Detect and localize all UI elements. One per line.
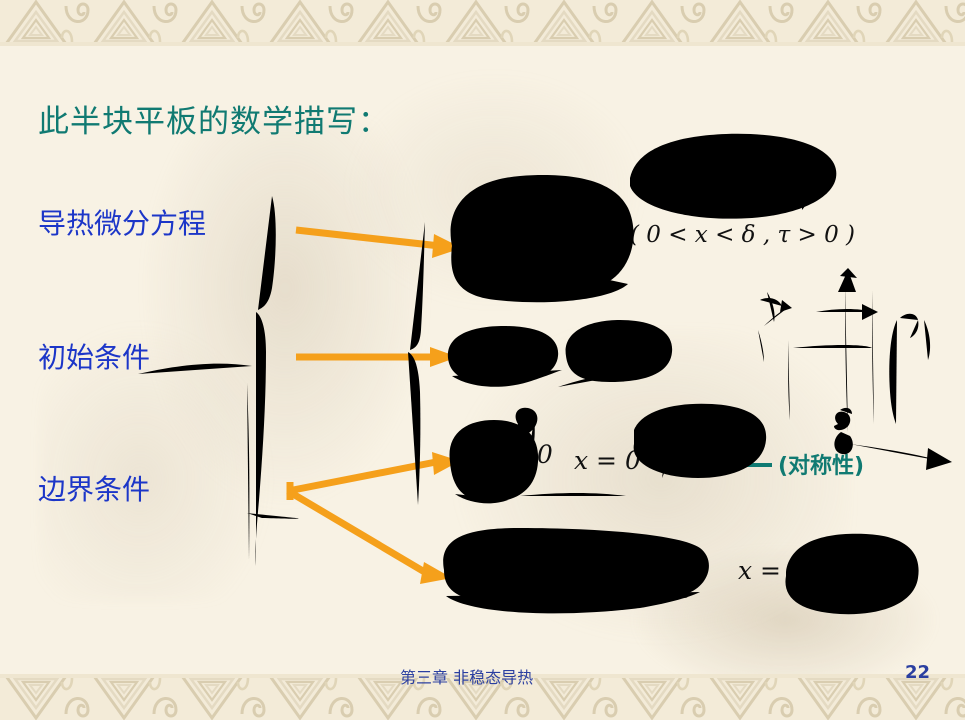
eq4-lead: − λ (452, 555, 502, 584)
ink-underline-initial (138, 364, 252, 374)
ink-handwritten-second-kind (634, 404, 766, 478)
label-heat-conduction-equation: 导热微分方程 (38, 202, 206, 242)
ink-cross-boundary (176, 383, 299, 560)
ink-tick-eq1 (520, 272, 522, 282)
label-initial-condition: 初始条件 (38, 336, 150, 376)
arrow-fork-to-boundary (288, 452, 460, 584)
background-watermark (430, 330, 850, 660)
symmetry-note: (对称性) (778, 448, 864, 480)
eq1-lhs-fraction: ∂t ∂τ (463, 213, 496, 267)
eq1-rhs-fraction: ∂2t ∂x2 (574, 212, 617, 268)
equation-pde-domain-condition: ( 0 < x < δ , τ > 0 ) (630, 222, 855, 248)
eq4-fraction: ∂t ∂x (510, 545, 543, 599)
equation-heat-conduction: ∂t ∂τ = a ∂2t ∂x2 (463, 212, 617, 268)
ink-handwritten-third-kind (785, 534, 918, 614)
eq3-fraction: ∂t ∂x (460, 430, 493, 484)
eq3-rhs: = 0 (501, 440, 553, 469)
equation-initial-temperature: t = t0 (462, 340, 529, 373)
footer-chapter: 第三章 非稳态导热 (400, 664, 533, 688)
equation-convection-position: x = δ (738, 556, 804, 585)
page-title: 此半块平板的数学描写： (38, 96, 390, 141)
slide-canvas: 此半块平板的数学描写： 导热微分方程 初始条件 边界条件 ∂t ∂τ = (0, 0, 965, 720)
eq1-equals: = (504, 224, 539, 253)
equation-initial-time: τ = 0 (573, 340, 640, 369)
background-watermark (120, 120, 450, 540)
label-boundary-condition: 边界条件 (38, 468, 150, 508)
eq1-coefficient: a (547, 224, 567, 253)
top-decorative-border (0, 0, 965, 46)
equation-symmetry-bc: ∂t ∂x = 0 (460, 430, 553, 484)
arrow-to-pde (296, 230, 462, 258)
equation-convection-bc: − λ ∂t ∂x = h( t − t∞ ) (452, 545, 708, 599)
footer-page-number: 22 (905, 662, 930, 683)
ink-middle-bracket (408, 222, 425, 505)
ink-handwritten-function-note (630, 134, 836, 219)
ink-underline-symmetry (520, 493, 626, 496)
arrow-to-initial (296, 347, 458, 367)
ink-handwritten-plate-sketch (758, 268, 952, 470)
equation-symmetry-position: x = 0 (574, 446, 641, 475)
eq4-rhs: = h( t − t∞ ) (551, 555, 708, 584)
ink-left-bracket (235, 196, 276, 568)
